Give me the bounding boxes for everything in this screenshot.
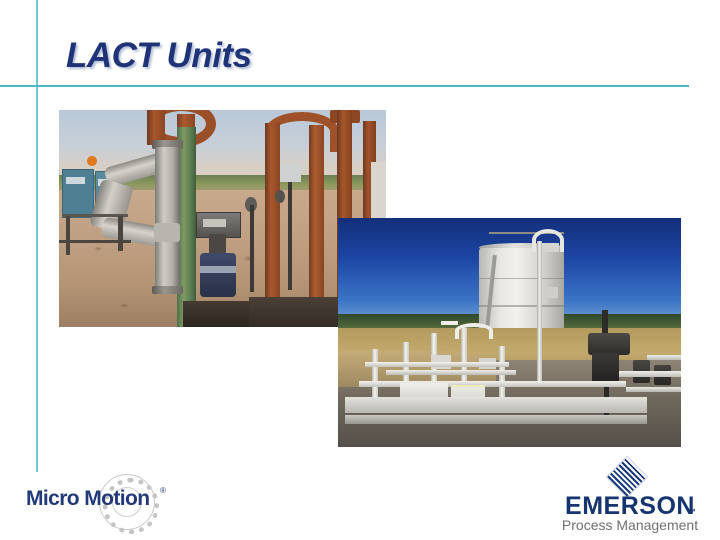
riser-pipe xyxy=(537,241,542,383)
pipe-elbow-top xyxy=(455,323,494,338)
riser-fitting-top xyxy=(542,243,559,252)
small-valve-b xyxy=(275,190,285,203)
beacon-light xyxy=(87,156,97,167)
micro-motion-logo: Micro Motion ® xyxy=(26,472,176,530)
slide-canvas: LACT Units xyxy=(0,0,720,540)
page-title: LACT Units xyxy=(66,36,252,76)
skid-beam xyxy=(345,415,647,424)
horizontal-accent-rule xyxy=(0,85,689,87)
meter-cap-bottom xyxy=(152,286,183,295)
micro-motion-wordmark: Micro Motion xyxy=(26,487,149,511)
control-cabinet-left xyxy=(62,169,93,219)
valve-band xyxy=(200,266,236,273)
pipe-tee-top xyxy=(441,321,458,325)
skid-rail-top xyxy=(359,381,627,387)
skid-base-shadow-inner xyxy=(183,301,255,327)
valve-body-center xyxy=(200,253,236,296)
riser-fitting-mid xyxy=(544,287,558,298)
rusty-riser-right-a xyxy=(265,123,280,314)
cabinet-label-one xyxy=(66,177,86,184)
meter-display-face xyxy=(203,219,226,228)
micro-motion-trademark: ® xyxy=(160,486,166,495)
rail-post-left xyxy=(66,216,71,255)
photo-lact-skid-rusty-piping xyxy=(59,110,386,327)
vertical-accent-rule xyxy=(36,0,38,472)
header-pipe-upper xyxy=(365,362,509,367)
valve-stem-a xyxy=(250,205,254,292)
header-pipe-lower xyxy=(386,370,516,375)
right-pipe-lower xyxy=(626,387,681,392)
right-pipe-mid xyxy=(619,371,681,376)
emerson-logo: EMERSON ™ Process Management xyxy=(556,462,704,532)
coriolis-meter-body xyxy=(155,147,180,290)
rail-post-right xyxy=(118,216,123,251)
emerson-tagline: Process Management xyxy=(556,517,704,533)
right-pipe-upper xyxy=(647,355,681,360)
photo-lact-skid-white-with-tank xyxy=(338,218,681,447)
rusty-riser-right-b xyxy=(309,125,324,314)
emerson-trademark: ™ xyxy=(687,507,696,517)
valve-stem-b xyxy=(288,182,292,291)
skid-deck xyxy=(345,397,647,413)
meter-flange xyxy=(154,223,180,243)
valve-actuator-head xyxy=(588,333,629,356)
